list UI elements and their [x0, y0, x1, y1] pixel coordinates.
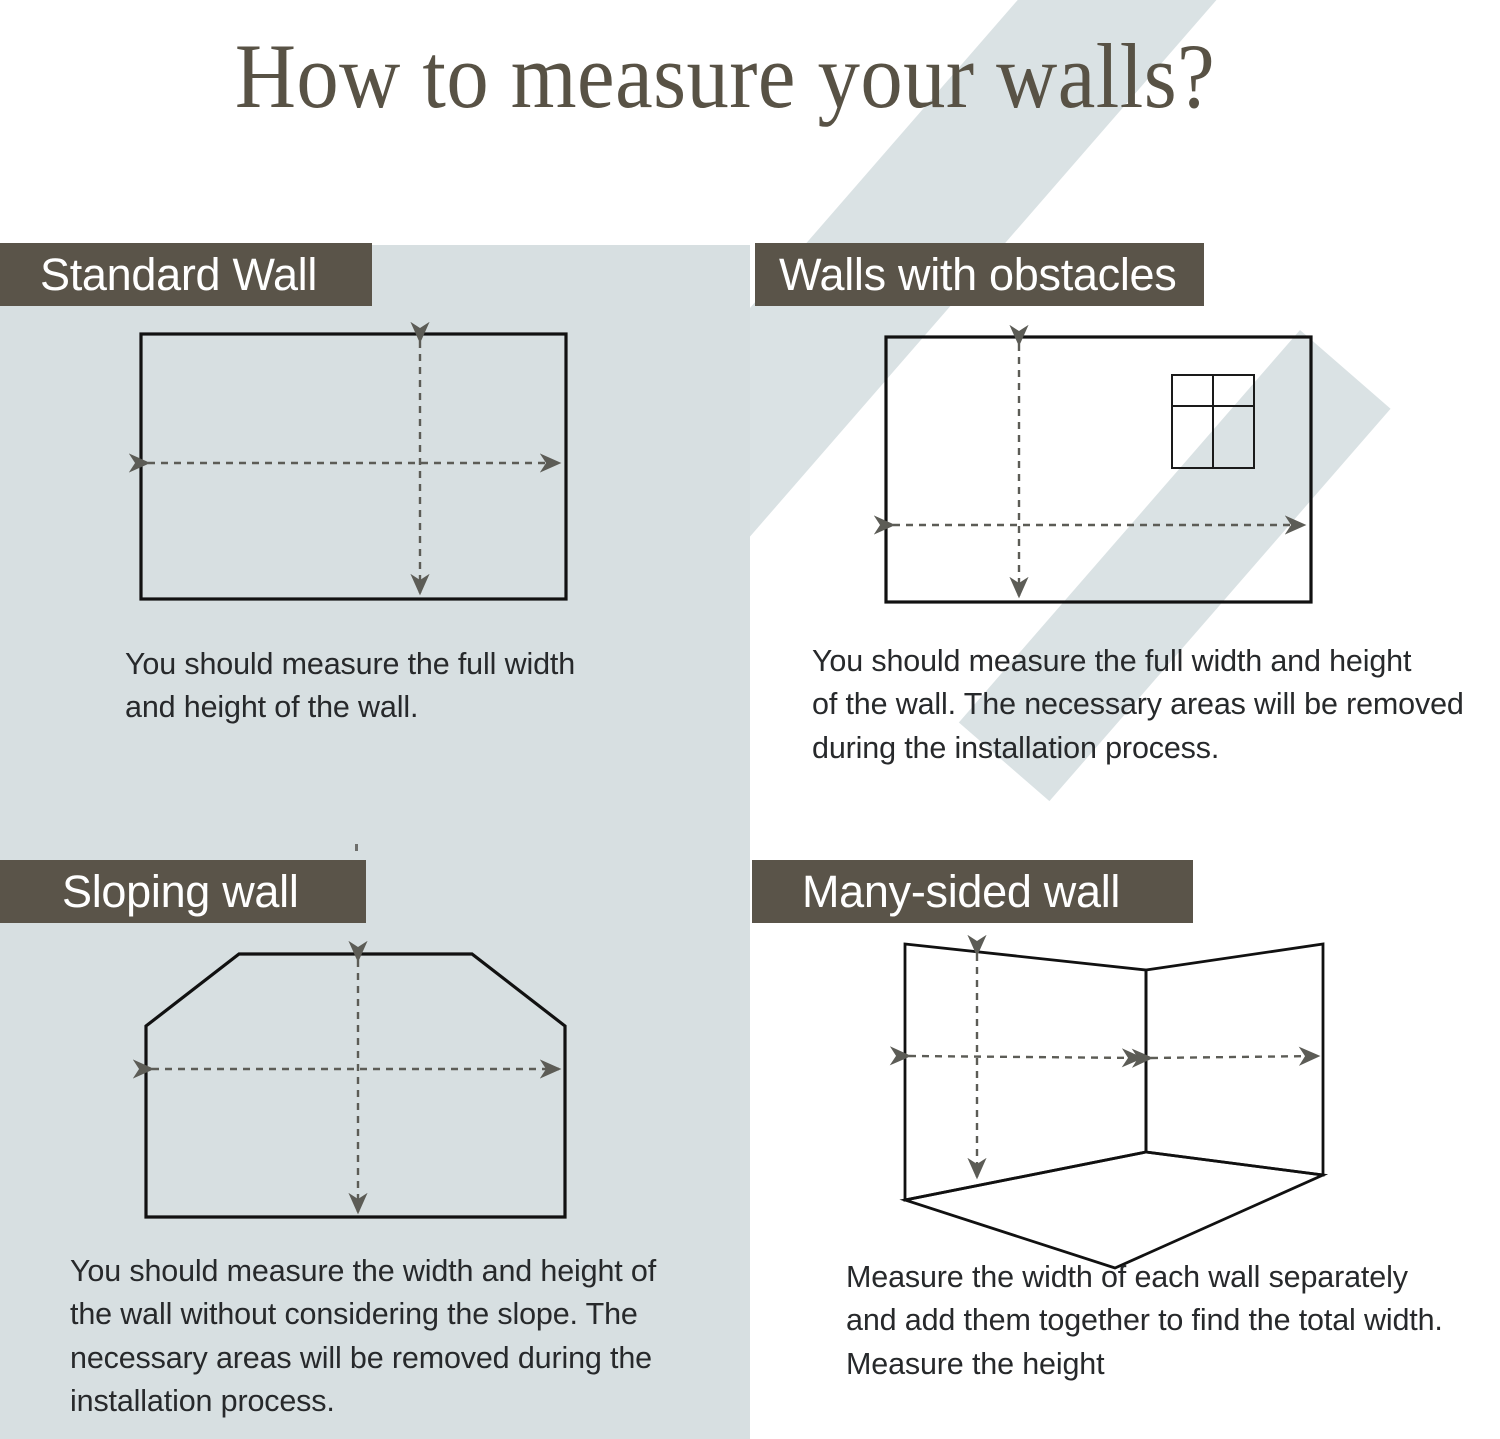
section-header-many-sided-wall: Many-sided wall [752, 860, 1193, 923]
page-title: How to measure your walls? [58, 28, 1392, 125]
floor-face [905, 1152, 1323, 1268]
left-wall-face [905, 944, 1146, 1200]
infographic-page: How to measure your walls? Standard Wall… [0, 0, 1500, 1439]
wall-outline [141, 334, 566, 599]
sloping-wall-diagram [125, 940, 595, 1250]
walls-with-obstacles-diagram [875, 325, 1325, 625]
wall-outline [886, 337, 1311, 602]
sloping-wall-outline [146, 954, 565, 1217]
caption-many-sided-wall: Measure the width of each wall separatel… [846, 1256, 1466, 1386]
caption-walls-with-obstacles: You should measure the full width and he… [812, 640, 1472, 770]
section-header-label: Sloping wall [62, 866, 299, 918]
window-icon [1172, 375, 1254, 468]
right-wall-width-arrow [1151, 1056, 1318, 1058]
section-header-label: Standard Wall [40, 249, 317, 301]
standard-wall-diagram [130, 322, 580, 622]
caption-sloping-wall: You should measure the width and height … [70, 1250, 690, 1423]
section-header-standard-wall: Standard Wall [0, 243, 372, 306]
caption-standard-wall: You should measure the full width and he… [125, 643, 645, 730]
section-header-walls-with-obstacles: Walls with obstacles [755, 243, 1204, 306]
many-sided-wall-diagram [885, 925, 1355, 1275]
left-wall-width-arrow [909, 1056, 1141, 1058]
section-header-label: Many-sided wall [802, 866, 1120, 918]
stray-mark [355, 844, 358, 851]
right-wall-face [1146, 944, 1323, 1175]
section-header-label: Walls with obstacles [779, 249, 1176, 301]
section-header-sloping-wall: Sloping wall [0, 860, 366, 923]
